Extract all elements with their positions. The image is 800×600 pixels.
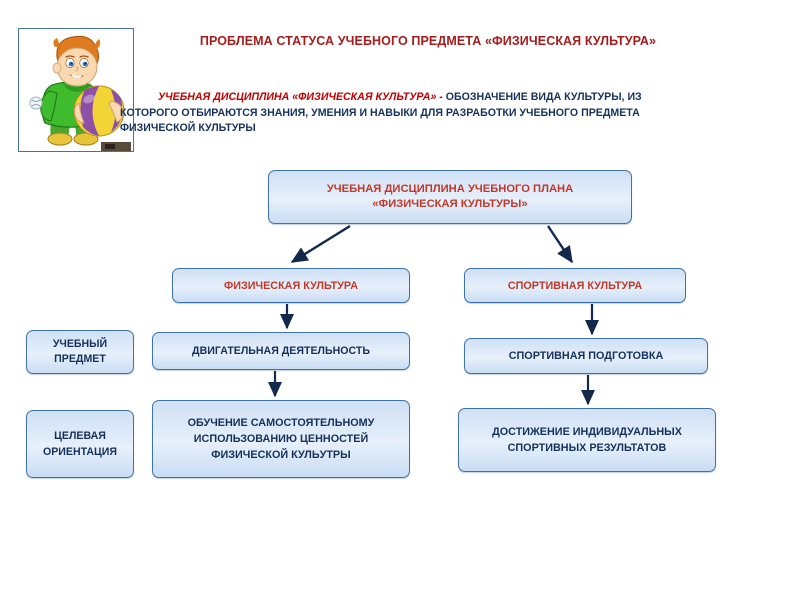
node-dostizhenie-line2: СПОРТИВНЫХ РЕЗУЛЬТАТОВ bbox=[508, 442, 667, 454]
arrow-root-to-sportivnaya bbox=[548, 226, 572, 262]
subtitle-line1-rest: ОБОЗНАЧЕНИЕ ВИДА КУЛЬТУРЫ, ИЗ bbox=[443, 91, 642, 103]
label-uchebnyy-predmet[interactable]: УЧЕБНЫЙ ПРЕДМЕТ bbox=[26, 330, 134, 374]
subtitle-line3: ФИЗИЧЕСКОЙ КУЛЬТУРЫ bbox=[120, 121, 700, 137]
subtitle-line2: КОТОРОГО ОТБИРАЮТСЯ ЗНАНИЯ, УМЕНИЯ И НАВ… bbox=[120, 106, 700, 122]
boy-with-ball-clipart bbox=[18, 28, 134, 152]
node-obuchenie-line1: ОБУЧЕНИЕ САМОСТОЯТЕЛЬНОМУ bbox=[188, 417, 375, 429]
node-sportivnaya-podgotovka[interactable]: СПОРТИВНАЯ ПОДГОТОВКА bbox=[464, 338, 708, 374]
page-title: ПРОБЛЕМА СТАТУСА УЧЕБНОГО ПРЕДМЕТА «ФИЗИ… bbox=[178, 32, 678, 51]
label-uchebnyy-predmet-line1: УЧЕБНЫЙ bbox=[53, 338, 107, 350]
node-root-line2: «ФИЗИЧЕСКАЯ КУЛЬТУРЫ» bbox=[372, 198, 527, 210]
label-tselevaya-orientatsiya-line2: ОРИЕНТАЦИЯ bbox=[43, 446, 117, 458]
node-obuchenie-samostoyatelnomu[interactable]: ОБУЧЕНИЕ САМОСТОЯТЕЛЬНОМУ ИСПОЛЬЗОВАНИЮ … bbox=[152, 400, 410, 478]
slide-canvas: ПРОБЛЕМА СТАТУСА УЧЕБНОГО ПРЕДМЕТА «ФИЗИ… bbox=[0, 0, 800, 600]
node-root[interactable]: УЧЕБНАЯ ДИСЦИПЛИНА УЧЕБНОГО ПЛАНА «ФИЗИЧ… bbox=[268, 170, 632, 224]
node-dostizhenie-rezultatov[interactable]: ДОСТИЖЕНИЕ ИНДИВИДУАЛЬНЫХ СПОРТИВНЫХ РЕЗ… bbox=[458, 408, 716, 472]
node-dostizhenie-line1: ДОСТИЖЕНИЕ ИНДИВИДУАЛЬНЫХ bbox=[492, 426, 682, 438]
boy-with-ball-illustration bbox=[19, 29, 133, 151]
label-tselevaya-orientatsiya-line1: ЦЕЛЕВАЯ bbox=[54, 430, 106, 442]
arrow-root-to-fizicheskaya bbox=[292, 226, 350, 262]
node-obuchenie-line3: ФИЗИЧЕСКОЙ КУЛЬУТРЫ bbox=[211, 449, 350, 461]
label-uchebnyy-predmet-line2: ПРЕДМЕТ bbox=[54, 353, 106, 365]
node-sportivnaya-kultura[interactable]: СПОРТИВНАЯ КУЛЬТУРА bbox=[464, 268, 686, 303]
node-dvigatelnaya-deyatelnost[interactable]: ДВИГАТЕЛЬНАЯ ДЕЯТЕЛЬНОСТЬ bbox=[152, 332, 410, 370]
label-tselevaya-orientatsiya[interactable]: ЦЕЛЕВАЯ ОРИЕНТАЦИЯ bbox=[26, 410, 134, 478]
node-root-line1: УЧЕБНАЯ ДИСЦИПЛИНА УЧЕБНОГО ПЛАНА bbox=[327, 183, 573, 195]
subtitle-lead: УЧЕБНАЯ ДИСЦИПЛИНА «ФИЗИЧЕСКАЯ КУЛЬТУРА»… bbox=[158, 91, 443, 103]
node-fizicheskaya-kultura[interactable]: ФИЗИЧЕСКАЯ КУЛЬТУРА bbox=[172, 268, 410, 303]
node-obuchenie-line2: ИСПОЛЬЗОВАНИЮ ЦЕННОСТЕЙ bbox=[194, 433, 368, 445]
page-subtitle: УЧЕБНАЯ ДИСЦИПЛИНА «ФИЗИЧЕСКАЯ КУЛЬТУРА»… bbox=[120, 90, 700, 137]
